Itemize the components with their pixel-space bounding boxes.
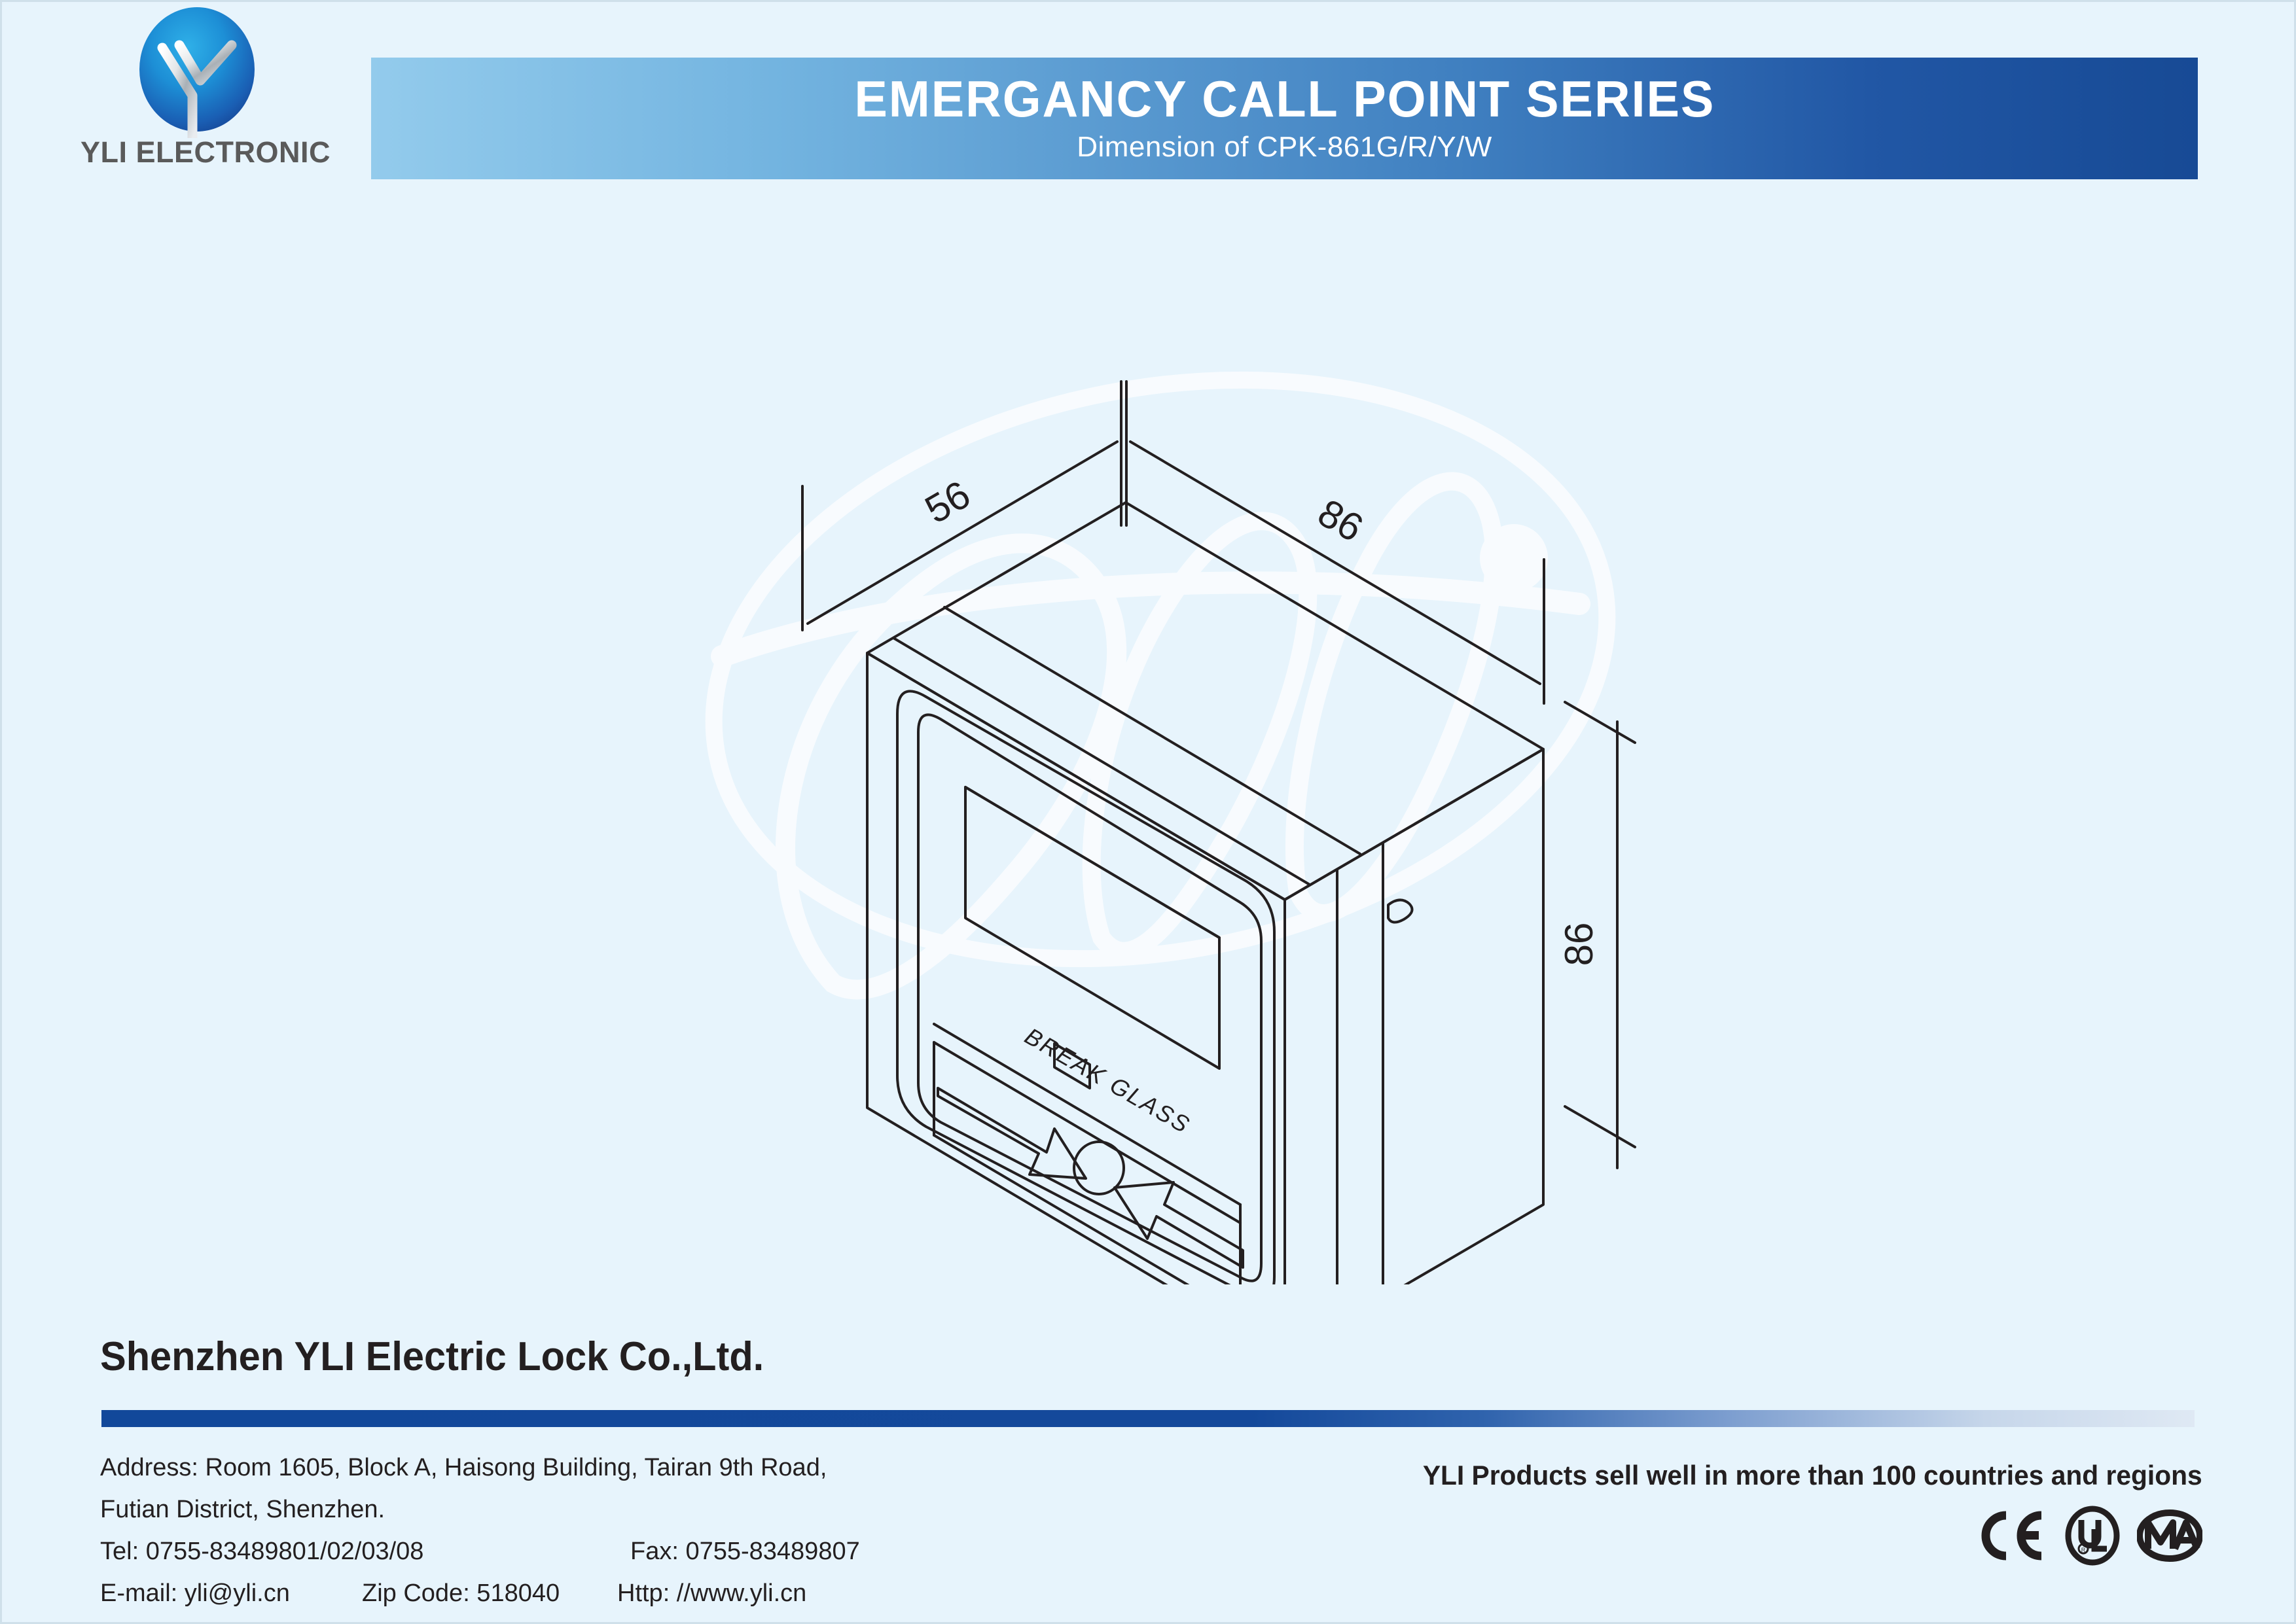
- enclosure-front-face: [867, 653, 1285, 1284]
- header-banner: EMERGANCY CALL POINT SERIES Dimension of…: [371, 58, 2198, 179]
- brand-name: YLI ELECTRONIC: [81, 135, 316, 169]
- push-button: [1074, 1142, 1124, 1194]
- address-line-2: Futian District, Shenzhen.: [100, 1489, 860, 1530]
- ma-mark-icon: [2137, 1506, 2202, 1566]
- footer-slogan: YLI Products sell well in more than 100 …: [1423, 1460, 2202, 1491]
- email[interactable]: E-mail: yli@yli.cn: [100, 1572, 362, 1614]
- company-name: Shenzhen YLI Electric Lock Co.,Ltd.: [100, 1333, 764, 1380]
- telephone: Tel: 0755-83489801/02/03/08: [100, 1530, 630, 1572]
- svg-text:R: R: [2081, 1547, 2086, 1553]
- enclosure-top-face: [867, 503, 1543, 900]
- break-glass-window: [965, 787, 1219, 1068]
- brand-logo: YLI ELECTRONIC: [81, 7, 316, 197]
- enclosure-side-face: [1285, 749, 1543, 1284]
- footer-divider-bar: [101, 1410, 2195, 1427]
- dimension-label-width: 86: [1311, 491, 1371, 550]
- fax: Fax: 0755-83489807: [630, 1538, 860, 1565]
- dimension-label-depth: 56: [918, 472, 977, 532]
- address-line-1: Address: Room 1605, Block A, Haisong Bui…: [100, 1447, 860, 1489]
- contact-info: Address: Room 1605, Block A, Haisong Bui…: [100, 1447, 860, 1614]
- dimension-label-height: 86: [1557, 923, 1601, 966]
- ul-mark-icon: R: [2064, 1506, 2121, 1566]
- ce-mark-icon: [1976, 1508, 2048, 1564]
- product-isometric-drawing: 56 86 86 BREAK GLASS: [722, 368, 1704, 1284]
- zip-code: Zip Code: 518040: [362, 1572, 617, 1614]
- page-subtitle: Dimension of CPK-861G/R/Y/W: [1077, 131, 1492, 164]
- certification-marks: R: [1976, 1506, 2202, 1566]
- datasheet-page: YLI ELECTRONIC EMERGANCY CALL POINT SERI…: [0, 0, 2296, 1624]
- yli-emblem-icon: [135, 7, 259, 138]
- website[interactable]: Http: //www.yli.cn: [617, 1580, 806, 1607]
- front-bezel: [897, 691, 1274, 1284]
- page-title: EMERGANCY CALL POINT SERIES: [854, 73, 1715, 124]
